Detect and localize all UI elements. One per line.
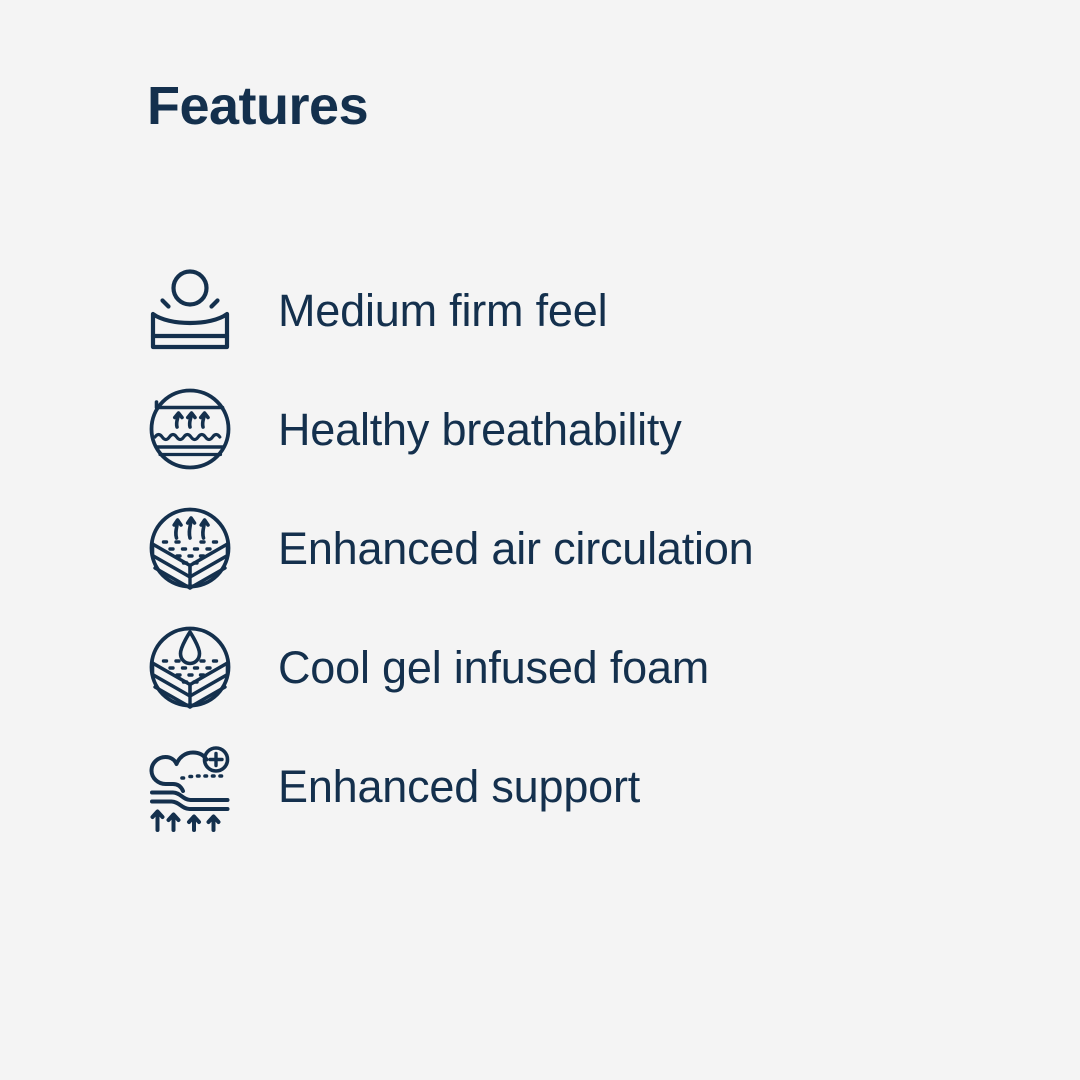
breathable-layers-circle-icon (147, 383, 233, 475)
features-panel: Features Medium firm feel (0, 0, 1080, 1080)
feature-item-label: Enhanced air circulation (278, 526, 753, 571)
feature-item-healthy-breathability[interactable]: Healthy breathability (147, 381, 1007, 477)
feature-item-enhanced-air-circulation[interactable]: Enhanced air circulation (147, 500, 1007, 596)
feature-item-label: Medium firm feel (278, 288, 607, 333)
feature-item-cool-gel-infused-foam[interactable]: Cool gel infused foam (147, 619, 1007, 715)
feature-item-label: Enhanced support (278, 764, 640, 809)
feature-list: Medium firm feel (147, 262, 1007, 834)
gel-droplet-layers-circle-icon (147, 621, 233, 713)
feature-item-label: Healthy breathability (278, 407, 682, 452)
feature-item-label: Cool gel infused foam (278, 645, 709, 690)
body-support-plus-icon (147, 740, 233, 832)
feature-item-medium-firm-feel[interactable]: Medium firm feel (147, 262, 1007, 358)
feature-item-enhanced-support[interactable]: Enhanced support (147, 738, 1007, 834)
mattress-bounce-icon (147, 264, 233, 356)
air-circulation-layers-circle-icon (147, 502, 233, 594)
page-title: Features (147, 78, 368, 135)
